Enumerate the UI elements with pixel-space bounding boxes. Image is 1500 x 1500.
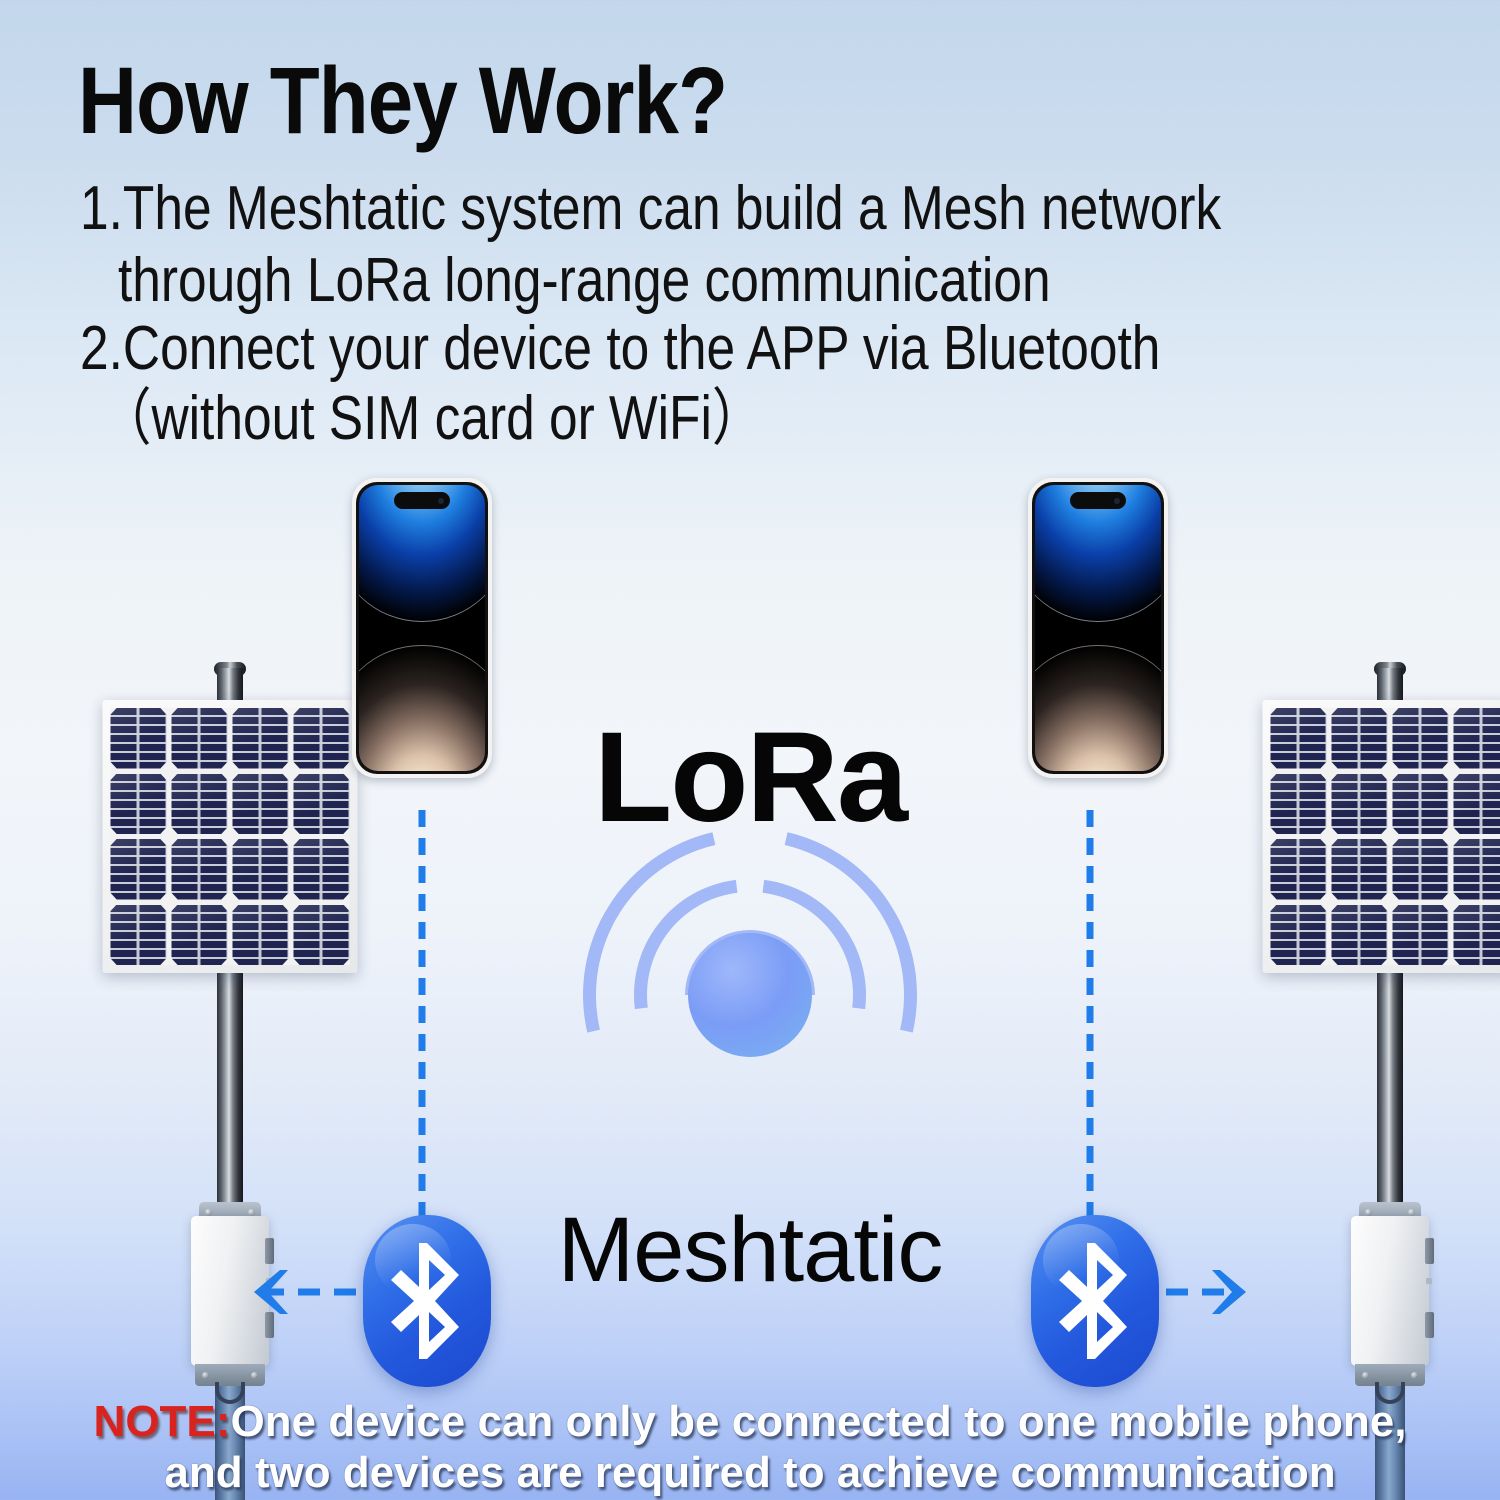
enclosure-latch-bottom: [1425, 1312, 1434, 1338]
radio-waves-icon: LoRa Meshtatic: [468, 800, 1032, 1190]
signal-source-dot: [688, 933, 812, 1057]
protocol-label: LoRa: [594, 714, 906, 842]
bluetooth-icon[interactable]: [1031, 1215, 1159, 1387]
dynamic-island-icon: [1070, 492, 1126, 509]
smartphone-icon-right: [1028, 478, 1168, 778]
arrow-up-icon: [1080, 788, 1100, 1218]
brand-label: Meshtatic: [558, 1204, 943, 1296]
dynamic-island-icon: [394, 492, 450, 509]
bluetooth-icon[interactable]: [363, 1215, 491, 1387]
note-banner: NOTE:One device can only be connected to…: [0, 1396, 1500, 1499]
note-line-2: and two devices are required to achieve …: [0, 1447, 1500, 1498]
enclosure-latch-top: [1425, 1238, 1434, 1264]
solar-panel-icon: [103, 700, 358, 973]
enclosure-latch-top: [265, 1238, 274, 1264]
infographic-canvas: How They Work? 1.The Meshtatic system ca…: [0, 0, 1500, 1500]
arrow-up-icon: [412, 788, 432, 1218]
smartphone-icon-left: [352, 478, 492, 778]
device-enclosure-icon: [1351, 1216, 1429, 1381]
note-label: NOTE:: [94, 1397, 231, 1446]
enclosure-led-icon: [1426, 1278, 1432, 1284]
note-line-1: One device can only be connected to one …: [230, 1397, 1406, 1446]
enclosure-latch-bottom: [265, 1312, 274, 1338]
solar-panel-icon: [1263, 700, 1500, 973]
arrow-left-icon: [262, 1282, 370, 1302]
